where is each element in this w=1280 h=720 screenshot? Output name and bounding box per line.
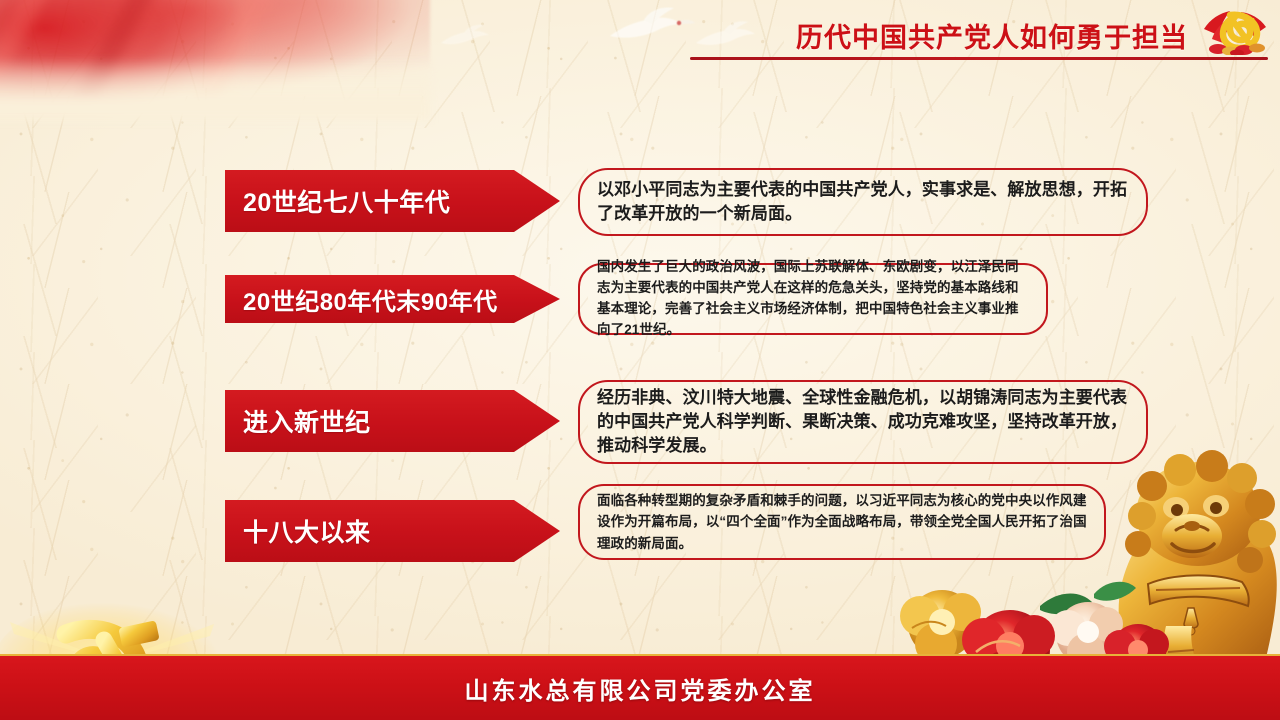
timeline-label-text: 20世纪80年代末90年代 — [225, 282, 498, 317]
page-title: 历代中国共产党人如何勇于担当 — [796, 16, 1188, 55]
guardian-lion-icon — [880, 438, 1280, 668]
slide-footer: 山东水总有限公司党委办公室 — [0, 654, 1280, 720]
timeline-description-bubble: 国内发生了巨大的政治风波，国际上苏联解体、东欧剧变，以江泽民同志为主要代表的中国… — [578, 263, 1048, 335]
timeline-label-text: 进入新世纪 — [225, 403, 371, 439]
header-divider — [690, 57, 1268, 60]
timeline-label-text: 十八大以来 — [225, 513, 371, 549]
timeline-label-text: 20世纪七八十年代 — [225, 183, 450, 219]
timeline-label-banner[interactable]: 20世纪80年代末90年代 — [225, 275, 560, 323]
slide-header: 历代中国共产党人如何勇于担当 — [0, 0, 1280, 72]
timeline-description-text: 国内发生了巨大的政治风波，国际上苏联解体、东欧剧变，以江泽民同志为主要代表的中国… — [580, 257, 1046, 341]
timeline-label-banner[interactable]: 20世纪七八十年代 — [225, 170, 560, 232]
timeline-description-bubble: 以邓小平同志为主要代表的中国共产党人，实事求是、解放思想，开拓了改革开放的一个新… — [578, 168, 1148, 236]
timeline-label-banner[interactable]: 十八大以来 — [225, 500, 560, 562]
party-emblem-icon — [1200, 5, 1274, 55]
timeline-label-banner[interactable]: 进入新世纪 — [225, 390, 560, 452]
footer-organization-name: 山东水总有限公司党委办公室 — [465, 671, 816, 706]
timeline-description-text: 以邓小平同志为主要代表的中国共产党人，实事求是、解放思想，开拓了改革开放的一个新… — [580, 178, 1146, 226]
presentation-slide: 历代中国共产党人如何勇于担当 20世纪七八十年 — [0, 0, 1280, 720]
